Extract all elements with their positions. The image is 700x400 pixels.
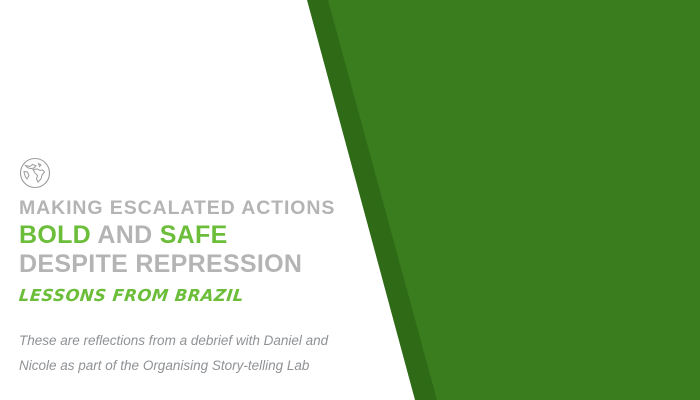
headline-line-2: BOLD AND SAFE xyxy=(19,222,349,249)
wedge-main-shape xyxy=(328,0,700,400)
headline-line-1: MAKING ESCALATED ACTIONS xyxy=(19,198,349,219)
slide-canvas: MAKING ESCALATED ACTIONS BOLD AND SAFE D… xyxy=(0,0,700,400)
body-copy: These are reflections from a debrief wit… xyxy=(19,329,369,379)
body-copy-line-2: Nicole as part of the Organising Story-t… xyxy=(19,354,369,379)
headline-kicker: LESSONS FROM BRAZIL xyxy=(18,286,245,305)
headline-block: MAKING ESCALATED ACTIONS BOLD AND SAFE D… xyxy=(19,198,349,306)
body-copy-line-1: These are reflections from a debrief wit… xyxy=(19,329,369,354)
headline-word-and: AND xyxy=(97,221,152,249)
headline-word-bold: BOLD xyxy=(19,221,91,249)
headline-line-3: DESPITE REPRESSION xyxy=(19,251,349,278)
globe-icon-wrapper xyxy=(18,156,52,190)
headline-word-safe: SAFE xyxy=(160,221,228,249)
globe-icon xyxy=(18,156,52,190)
